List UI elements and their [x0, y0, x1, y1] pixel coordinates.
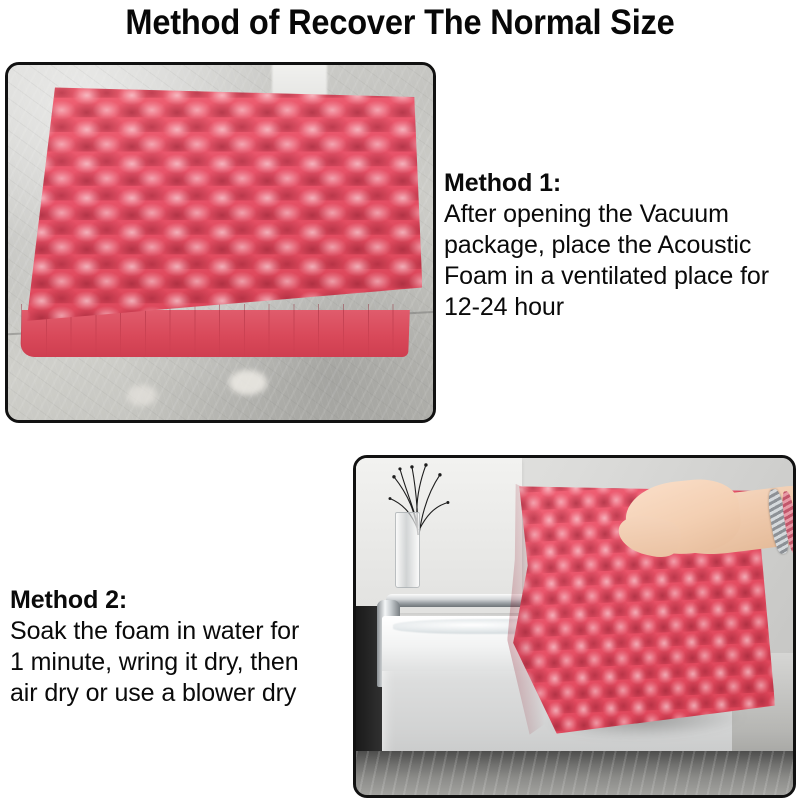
- method-2-body: Soak the foam in water for 1 minute, wri…: [10, 616, 350, 709]
- method-1-line: package, place the Acoustic: [444, 230, 796, 261]
- method-2-line: air dry or use a blower dry: [10, 678, 350, 709]
- floor-speckle: [127, 385, 157, 406]
- glass-vase: [395, 512, 420, 588]
- foam-crest-row: [19, 83, 423, 109]
- method-2-line: Soak the foam in water for: [10, 616, 350, 647]
- method-1-heading: Method 1:: [444, 168, 796, 199]
- hand-holding-foam: [618, 475, 793, 576]
- method-2-photo: [353, 455, 796, 798]
- product-instruction-page: Method of Recover The Normal Size: [0, 0, 800, 800]
- method-2-text-block: Method 2: Soak the foam in water for 1 m…: [10, 585, 350, 709]
- method-1-line: After opening the Vacuum: [444, 199, 796, 230]
- method-2-photo-inner: [356, 458, 793, 795]
- method-2-line: 1 minute, wring it dry, then: [10, 647, 350, 678]
- method-1-photo: [5, 62, 436, 423]
- foam-eggcrate-texture-offset: [19, 83, 423, 321]
- method-1-photo-inner: [8, 65, 433, 420]
- method-1-line: 12-24 hour: [444, 292, 796, 323]
- page-title: Method of Recover The Normal Size: [28, 2, 772, 44]
- method-1-line: Foam in a ventilated place for: [444, 261, 796, 292]
- method-2-heading: Method 2:: [10, 585, 350, 616]
- method-1-body: After opening the Vacuum package, place …: [444, 199, 796, 323]
- method-1-text-block: Method 1: After opening the Vacuum packa…: [444, 168, 796, 323]
- foam-top-face: [19, 83, 423, 321]
- marble-countertop: [356, 751, 793, 795]
- acoustic-foam-panel-flat: [19, 83, 423, 360]
